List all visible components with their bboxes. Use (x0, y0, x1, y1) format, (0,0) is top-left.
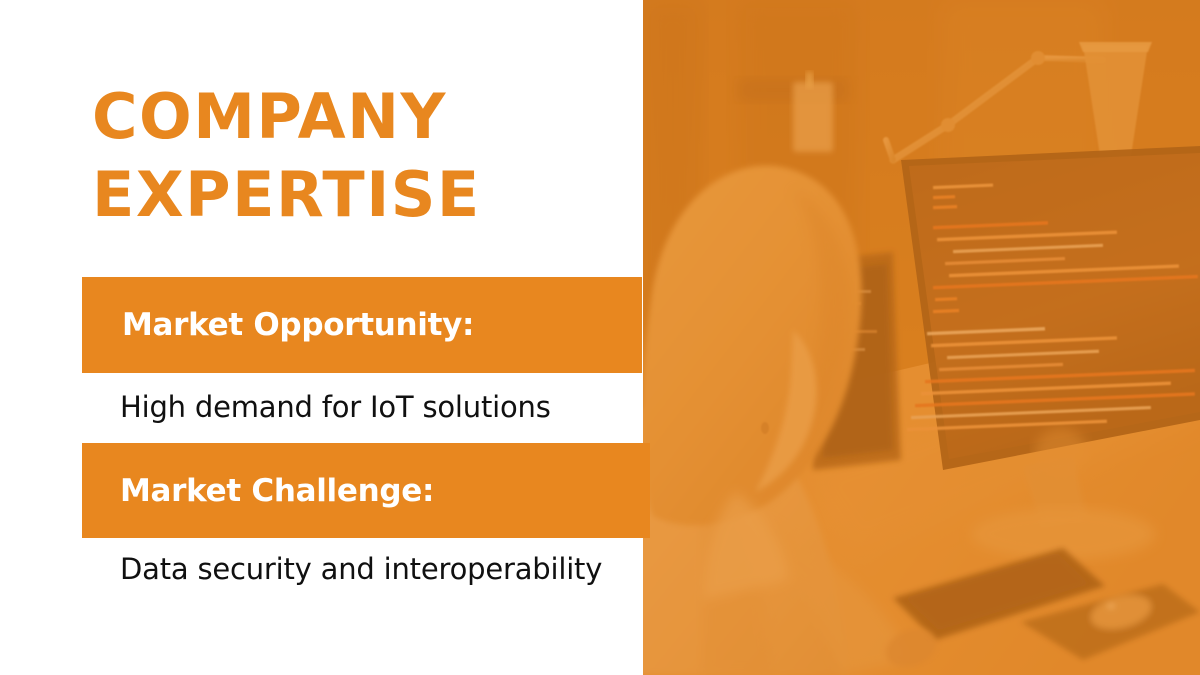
title-line-2: EXPERTISE (92, 156, 632, 234)
title-line-1: COMPANY (92, 78, 632, 156)
section-body-market-opportunity: High demand for IoT solutions (120, 390, 551, 424)
section-heading-label: Market Challenge: (120, 473, 434, 509)
section-heading-label: Market Opportunity: (122, 307, 474, 343)
page-title: COMPANY EXPERTISE (92, 78, 632, 234)
workspace-photo (643, 0, 1200, 675)
section-heading-bar-market-opportunity: Market Opportunity: (82, 277, 642, 373)
photo-panel (643, 0, 1200, 675)
section-heading-bar-market-challenge: Market Challenge: (82, 443, 650, 538)
slide-root: COMPANY EXPERTISE Market Opportunity: Hi… (0, 0, 1200, 675)
section-body-market-challenge: Data security and interoperability (120, 552, 602, 586)
